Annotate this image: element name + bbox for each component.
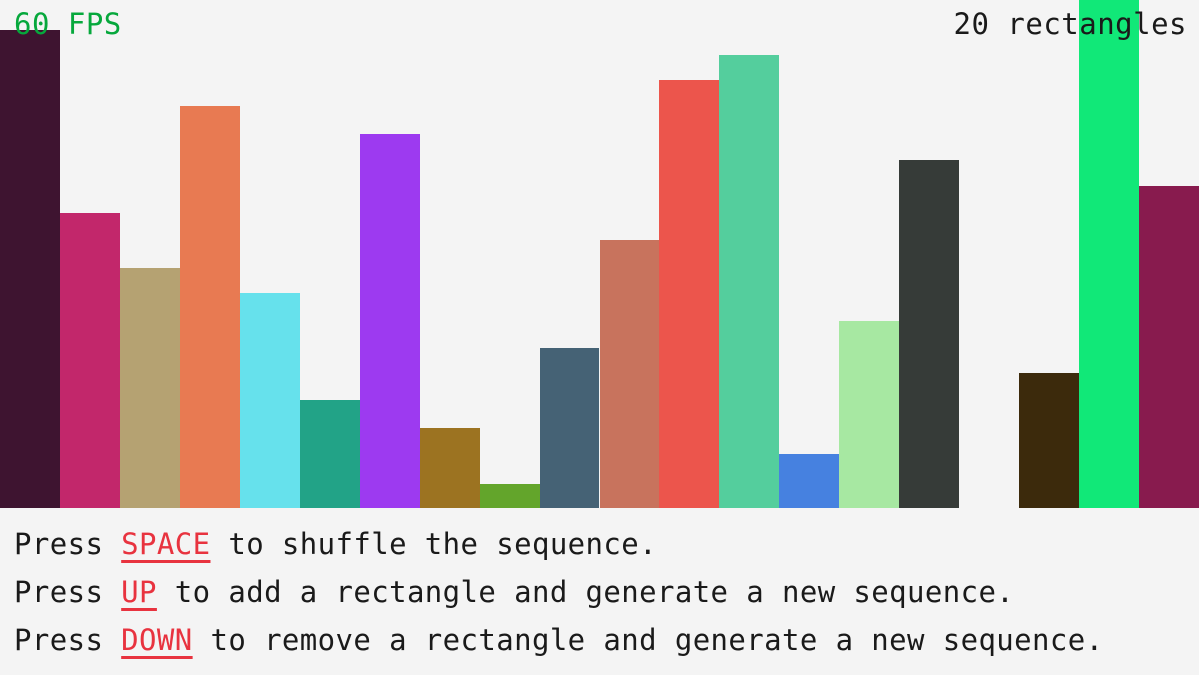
bar-slate-blue xyxy=(540,348,600,508)
fps-counter: 60 FPS xyxy=(14,10,122,39)
bar-crimson-magenta xyxy=(60,213,120,508)
instructions-panel: Press SPACE to shuffle the sequence. Pre… xyxy=(0,508,1199,675)
bar-emerald xyxy=(719,55,779,508)
bar-red xyxy=(659,80,719,508)
key-up[interactable]: UP xyxy=(121,575,157,609)
bar-series xyxy=(0,0,1199,508)
rectangle-count-label: 20 rectangles xyxy=(954,10,1187,39)
instruction-prefix: Press xyxy=(14,575,121,609)
bar-teal xyxy=(300,400,360,508)
bar-light-green xyxy=(839,321,899,508)
chart-canvas[interactable]: 60 FPS 20 rectangles xyxy=(0,0,1199,508)
bar-purple xyxy=(360,134,420,508)
bar-charcoal xyxy=(899,160,959,508)
instruction-line-add: Press UP to add a rectangle and generate… xyxy=(14,568,1199,616)
bar-dark-plum xyxy=(0,30,60,508)
rectangle-visualizer-app: 60 FPS 20 rectangles Press SPACE to shuf… xyxy=(0,0,1199,675)
bar-cyan xyxy=(240,293,300,508)
bar-terracotta xyxy=(600,240,660,508)
bar-dark-brown xyxy=(1019,373,1079,508)
bar-brown xyxy=(420,428,480,508)
bar-olive-green xyxy=(480,484,540,508)
key-space[interactable]: SPACE xyxy=(121,527,210,561)
bar-spring-green xyxy=(1079,0,1139,508)
bar-orange xyxy=(180,106,240,508)
bar-wine xyxy=(1139,186,1199,508)
instruction-line-shuffle: Press SPACE to shuffle the sequence. xyxy=(14,520,1199,568)
instruction-line-remove: Press DOWN to remove a rectangle and gen… xyxy=(14,616,1199,664)
instruction-suffix: to add a rectangle and generate a new se… xyxy=(157,575,1014,609)
key-down[interactable]: DOWN xyxy=(121,623,192,657)
bar-tan xyxy=(120,268,180,508)
instruction-suffix: to shuffle the sequence. xyxy=(210,527,657,561)
instruction-prefix: Press xyxy=(14,527,121,561)
instruction-suffix: to remove a rectangle and generate a new… xyxy=(193,623,1104,657)
instruction-prefix: Press xyxy=(14,623,121,657)
bar-blue xyxy=(779,454,839,508)
